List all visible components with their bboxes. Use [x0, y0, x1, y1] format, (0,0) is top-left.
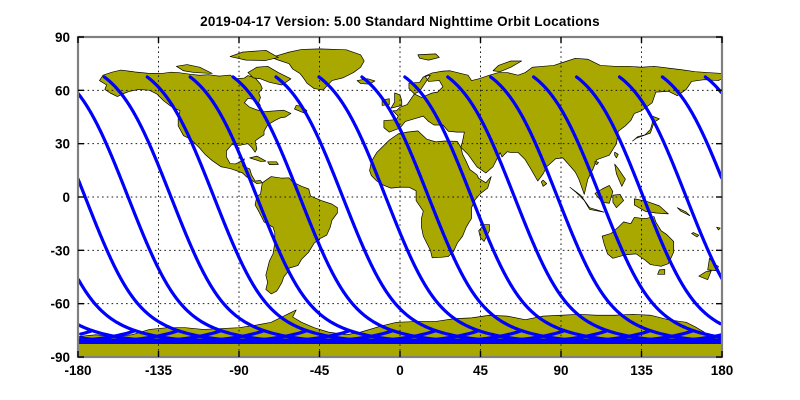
x-axis-label--180: -180: [64, 363, 91, 378]
y-axis-label-30: 30: [55, 137, 70, 152]
y-axis-label-0: 0: [62, 190, 70, 205]
x-axis-label-180: 180: [711, 363, 734, 378]
y-axis-label--30: -30: [50, 243, 70, 258]
landmass-polygon-30: [268, 162, 279, 165]
x-axis-label-0: 0: [396, 363, 404, 378]
x-axis-label-135: 135: [630, 363, 653, 378]
y-axis-label-90: 90: [55, 30, 70, 45]
y-axis-label--90: -90: [50, 350, 70, 365]
x-axis-labels: -180-135-90-4504590135180: [64, 363, 733, 378]
chart-title: 2019-04-17 Version: 5.00 Standard Nightt…: [200, 14, 600, 29]
x-axis-label--90: -90: [229, 363, 249, 378]
x-axis-label-45: 45: [473, 363, 489, 378]
x-axis-label--45: -45: [310, 363, 330, 378]
x-axis-label--135: -135: [145, 363, 173, 378]
y-axis-label--60: -60: [50, 297, 70, 312]
orbit-map-figure: 2019-04-17 Version: 5.00 Standard Nightt…: [0, 0, 800, 400]
y-axis-label-60: 60: [55, 83, 70, 98]
x-axis-label-90: 90: [553, 363, 568, 378]
